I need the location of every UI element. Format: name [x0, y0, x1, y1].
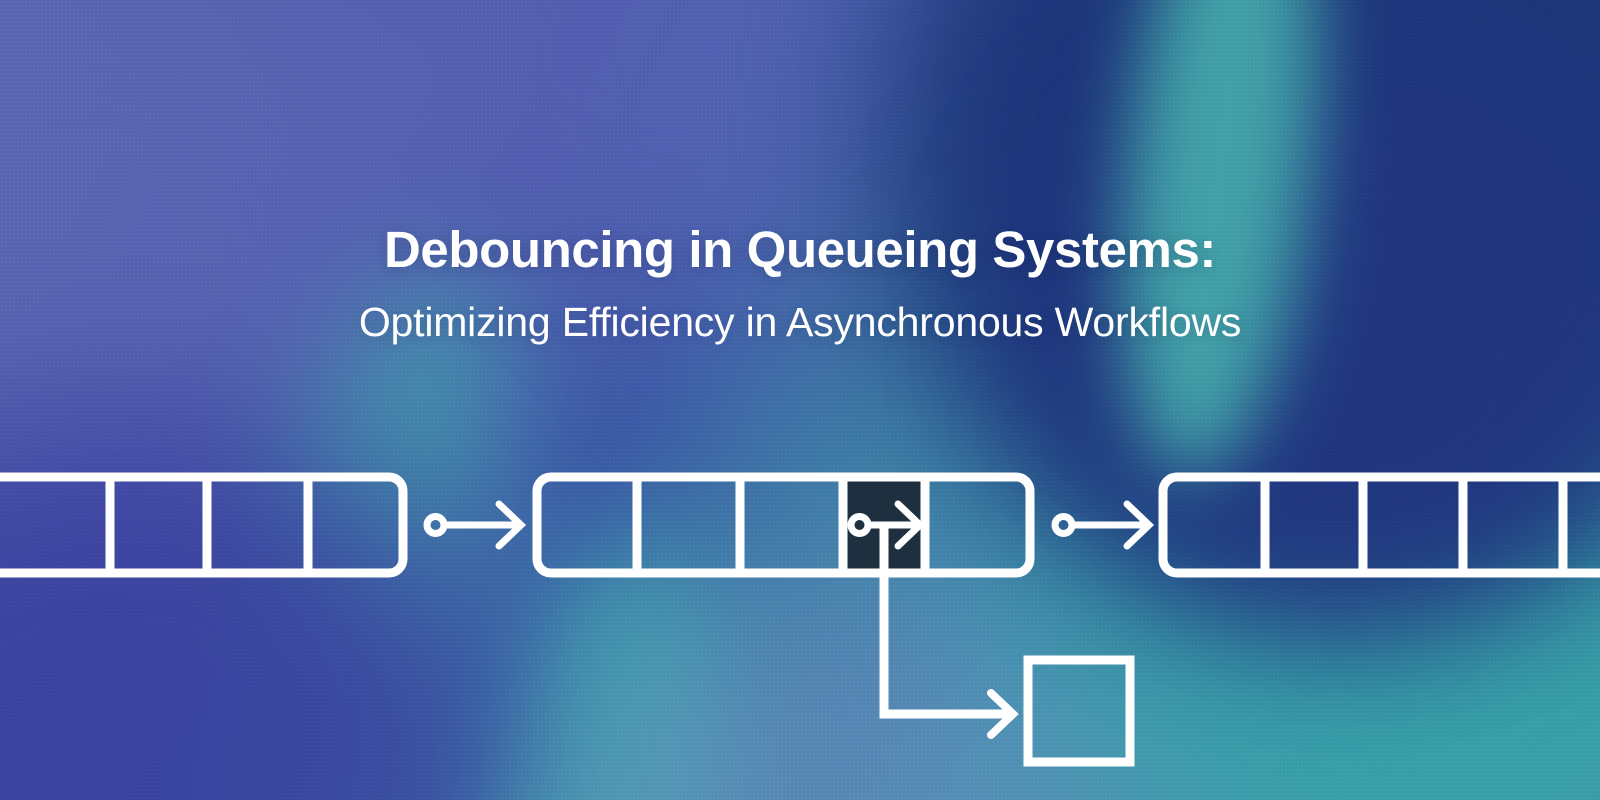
queues-group: [0, 473, 1600, 578]
queue-left-queue: [0, 477, 403, 573]
sink-box[interactable]: [1028, 660, 1130, 762]
connector-dot-icon: [427, 517, 444, 534]
queue-frame[interactable]: [1163, 477, 1600, 573]
queue-right-queue: [1163, 477, 1600, 573]
middle-to-right-arrow[interactable]: [1055, 504, 1149, 546]
queue-middle-queue: [537, 473, 1030, 578]
queue-frame[interactable]: [537, 477, 1030, 573]
sink-box-group: [1028, 660, 1130, 762]
queue-debounce-diagram: [0, 0, 1600, 800]
hero-banner: Debouncing in Queueing Systems: Optimizi…: [0, 0, 1600, 800]
connector-dot-icon: [1055, 517, 1072, 534]
left-to-middle-arrow[interactable]: [427, 504, 521, 546]
queue-frame[interactable]: [0, 477, 403, 573]
